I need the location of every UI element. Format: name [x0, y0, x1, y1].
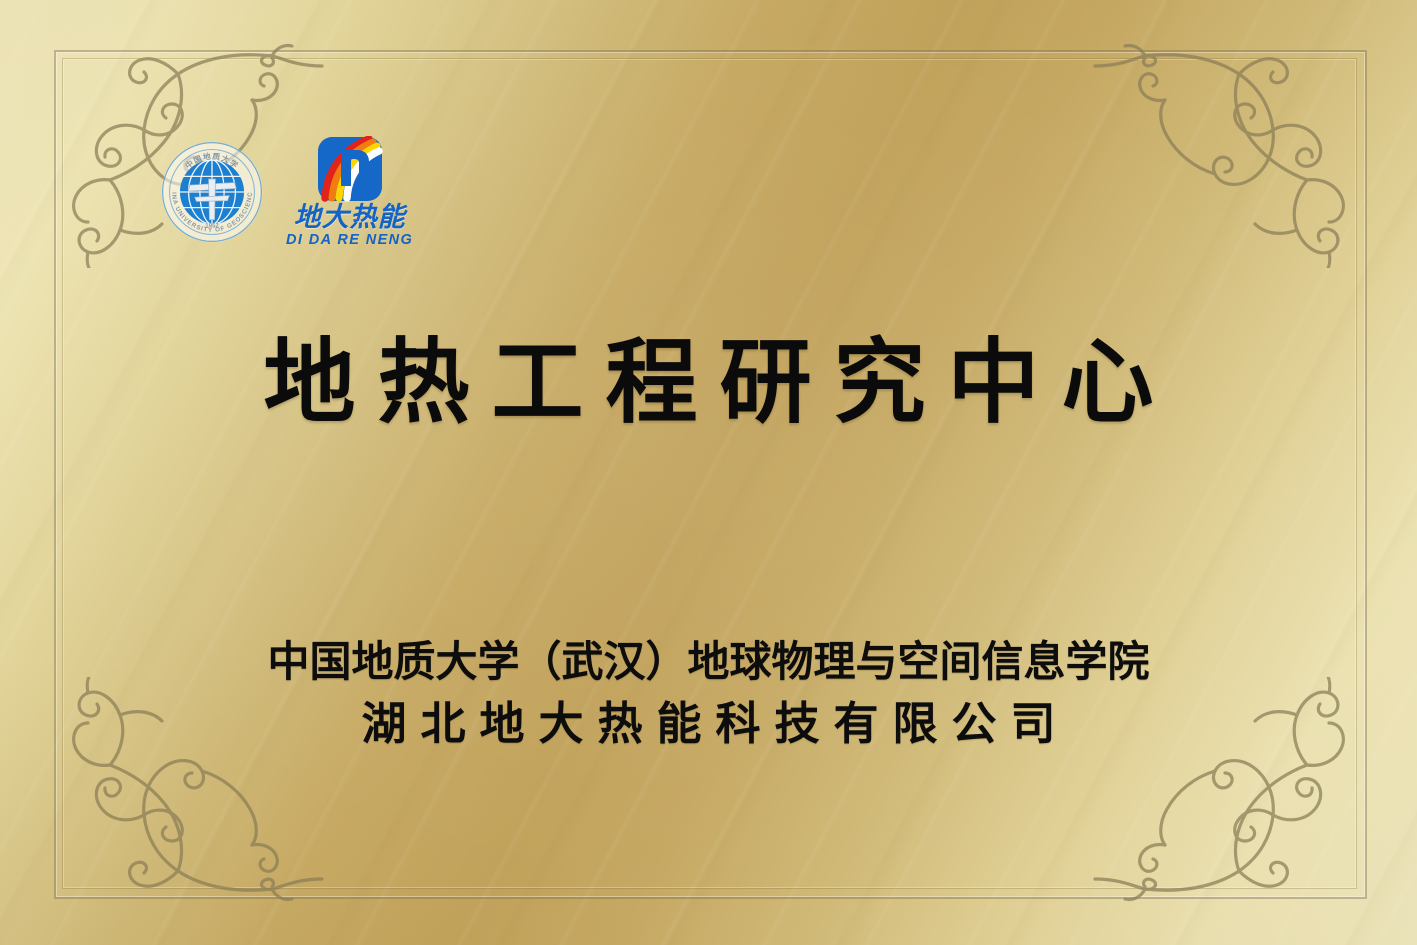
university-seal: 中国地质大学 CHINA UNIVERSITY OF GEOSCIENCES 1… — [160, 140, 264, 244]
logo-row: 中国地质大学 CHINA UNIVERSITY OF GEOSCIENCES 1… — [160, 136, 413, 248]
subtitle-line-company: 湖北地大热能科技有限公司 — [0, 695, 1417, 754]
company-name-en: DI DA RE NENG — [286, 233, 413, 248]
svg-text:1952: 1952 — [205, 223, 219, 229]
company-name-cn: 地大热能 — [294, 204, 406, 231]
subtitle-block: 中国地质大学（武汉）地球物理与空间信息学院 湖北地大热能科技有限公司 — [0, 636, 1417, 753]
subtitle-line-university: 中国地质大学（武汉）地球物理与空间信息学院 — [0, 636, 1417, 689]
company-logo: 地大热能 DI DA RE NENG — [286, 136, 413, 248]
page-title: 地热工程研究中心 — [0, 330, 1417, 436]
corner-flourish-icon-top-right — [1091, 18, 1391, 268]
didareneng-mark-icon — [317, 136, 383, 202]
award-plaque: 中国地质大学 CHINA UNIVERSITY OF GEOSCIENCES 1… — [0, 0, 1417, 945]
university-seal-icon: 中国地质大学 CHINA UNIVERSITY OF GEOSCIENCES 1… — [160, 140, 264, 244]
